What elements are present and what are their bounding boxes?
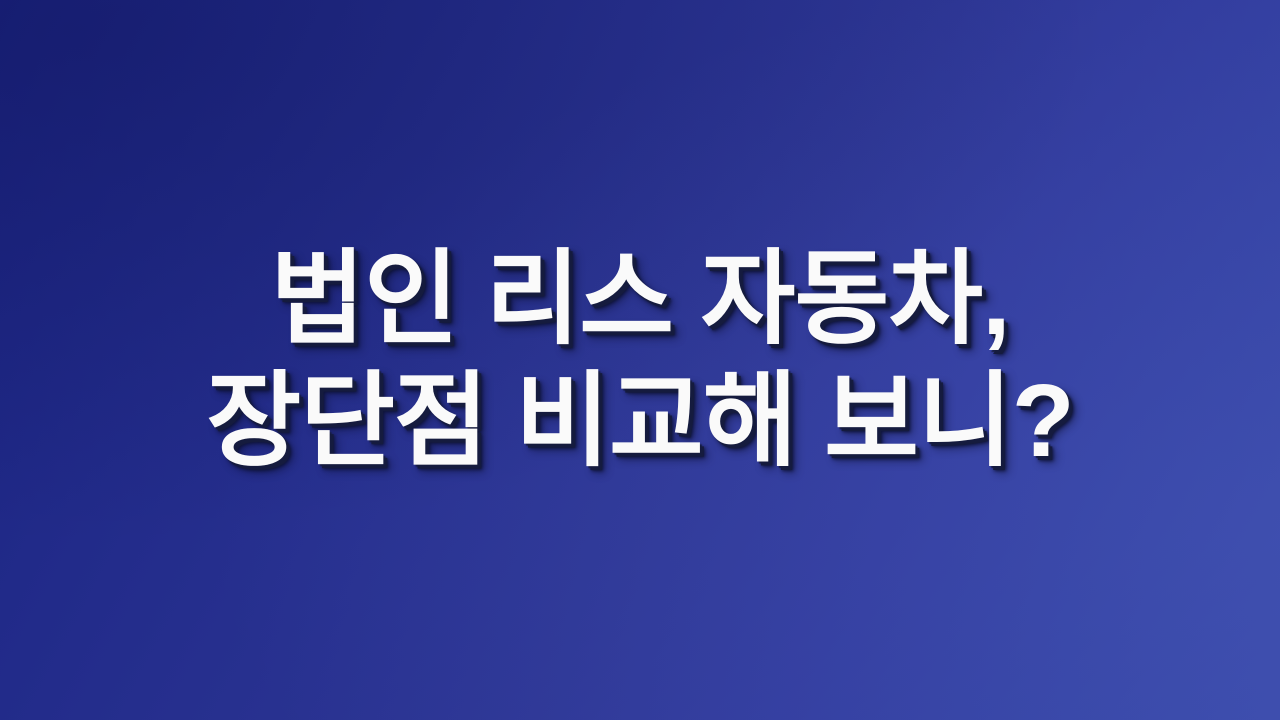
title-line-2: 장단점 비교해 보니?: [0, 360, 1280, 482]
title-block: 법인 리스 자동차, 장단점 비교해 보니?: [0, 238, 1280, 482]
title-line-1: 법인 리스 자동차,: [0, 238, 1280, 360]
thumbnail-canvas: 법인 리스 자동차, 장단점 비교해 보니?: [0, 0, 1280, 720]
